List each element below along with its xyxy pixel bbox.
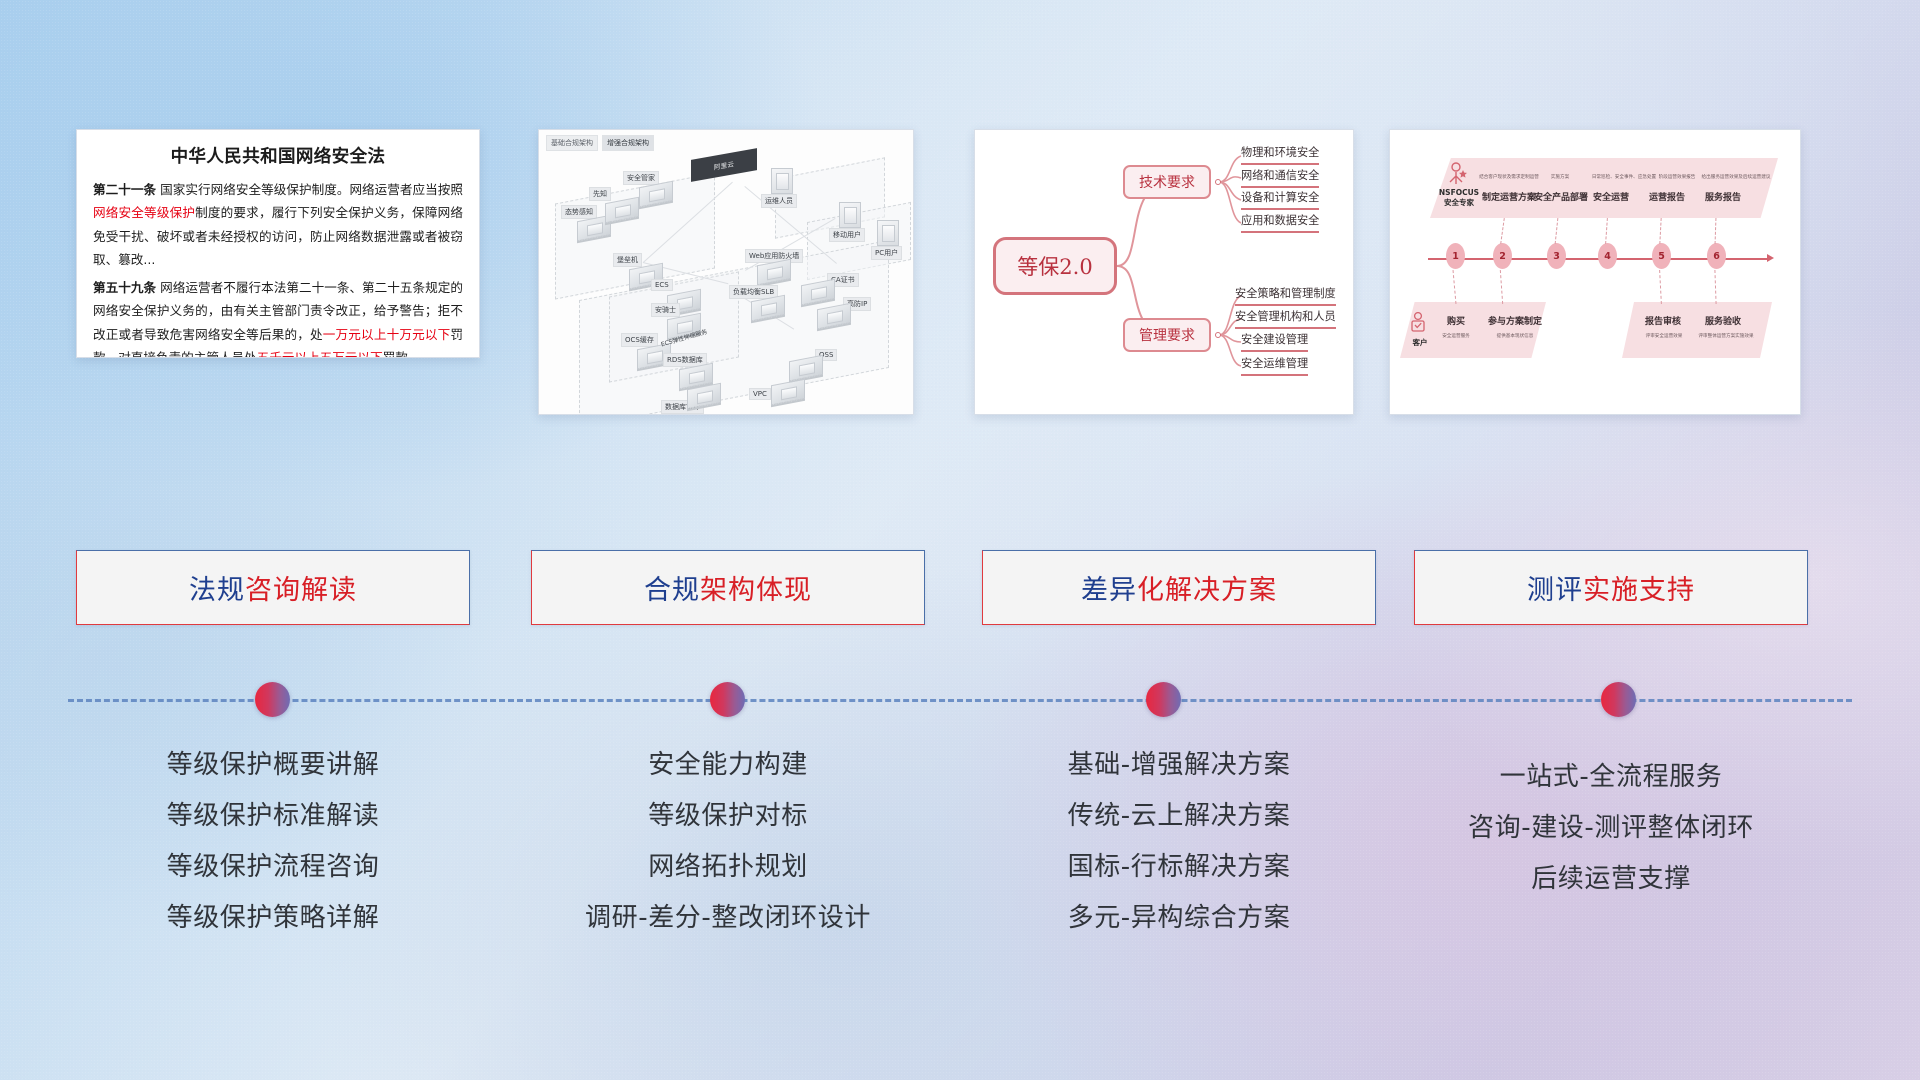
section-title-text: 法规咨询解读	[189, 568, 357, 607]
timeline-node: 6	[1707, 243, 1726, 269]
list-item: 等级保护流程咨询	[76, 842, 470, 893]
architecture-tabs: 基础合规架构 增强合规架构	[546, 135, 654, 151]
section-title-assessment-support[interactable]: 测评实施支持	[1414, 550, 1808, 625]
list-item: 等级保护概要讲解	[76, 740, 470, 791]
node-pc-user: PC用户	[877, 220, 899, 246]
law-highlight: 五千元以上五万元以下	[257, 350, 383, 358]
law-paragraph-21: 第二十一条 国家实行网络安全等级保护制度。网络运营者应当按照网络安全等级保护制度…	[93, 178, 463, 272]
timeline-bottom-sub: 评审整体运营方案实施效果	[1686, 333, 1766, 339]
timeline-bottom-label: 服务验收	[1696, 314, 1750, 327]
node-oss: OSS	[789, 358, 823, 378]
list-item: 网络拓扑规划	[531, 842, 925, 893]
timeline-bottom-label: 购买	[1434, 314, 1478, 327]
node-label: VPC	[749, 388, 771, 400]
customer-person-icon	[1410, 312, 1430, 336]
band-customer-right	[1622, 302, 1772, 358]
timeline-stem	[1659, 270, 1662, 304]
timeline-node: 3	[1547, 243, 1566, 269]
node-glyph	[801, 279, 835, 306]
timeline-marker-1	[255, 682, 290, 717]
mindmap-leaf: 安全建设管理	[1241, 331, 1308, 352]
section-title-text: 测评实施支持	[1527, 568, 1695, 607]
list-item: 等级保护策略详解	[76, 893, 470, 944]
node-label: 安骑士	[651, 303, 680, 317]
node-xianzhi: 先知	[605, 200, 639, 220]
mindmap-leaf: 安全管理机构和人员	[1235, 308, 1336, 329]
node-label: 安全管家	[623, 171, 659, 185]
timeline-stem	[1715, 218, 1717, 244]
timeline-marker-2	[710, 682, 745, 717]
timeline-node: 5	[1652, 243, 1671, 269]
node-slb: 负载均衡SLB	[751, 298, 785, 318]
title-suffix: 化解决方案	[1137, 575, 1277, 606]
node-glyph	[789, 355, 823, 382]
section-items-compliance-architecture: 安全能力构建 等级保护对标 网络拓扑规划 调研-差分-整改闭环设计	[531, 740, 925, 944]
section-title-compliance-architecture[interactable]: 合规架构体现	[531, 550, 925, 625]
section-items-regulation-consulting: 等级保护概要讲解 等级保护标准解读 等级保护流程咨询 等级保护策略详解	[76, 740, 470, 944]
mindmap-branch-management: 管理要求	[1123, 318, 1211, 352]
section-items-differentiated-solution: 基础-增强解决方案 传统-云上解决方案 国标-行标解决方案 多元-异构综合方案	[982, 740, 1376, 944]
list-item: 等级保护对标	[531, 791, 925, 842]
law-highlight: 网络安全等级保护	[93, 205, 195, 220]
node-glyph	[817, 303, 851, 330]
law-highlight: 一万元以上十万元以下	[323, 327, 451, 342]
node-label: PC用户	[871, 246, 902, 260]
card-compliance-architecture: 基础合规架构 增强合规架构 阿里云 态势感知	[538, 129, 914, 415]
section-title-text: 合规架构体现	[644, 568, 812, 607]
mindmap-leaf: 物理和环境安全	[1241, 144, 1319, 165]
timeline-stem	[1453, 270, 1457, 304]
mindmap-leaf: 应用和数据安全	[1241, 212, 1319, 233]
node-label: 先知	[589, 187, 611, 201]
node-mobile-user: 移动用户	[839, 202, 861, 228]
card-cybersecurity-law: 中华人民共和国网络安全法 第二十一条 国家实行网络安全等级保护制度。网络运营者应…	[76, 129, 480, 358]
node-ops-personnel: 运维人员	[771, 168, 793, 194]
node-label: ECS	[651, 279, 673, 291]
mindmap-leaf: 设备和计算安全	[1241, 189, 1319, 210]
list-item: 一站式-全流程服务	[1414, 752, 1808, 803]
title-prefix: 差异	[1081, 575, 1137, 606]
list-item: 后续运营支撑	[1414, 854, 1808, 905]
node-label: 移动用户	[829, 228, 865, 242]
timeline-top-sub: 给出服务运营效果及后续运营建议	[1686, 174, 1786, 180]
timeline-axis-arrow	[1767, 254, 1774, 262]
node-ca-certificate: CA证书	[801, 282, 835, 302]
tab-basic-architecture[interactable]: 基础合规架构	[546, 135, 598, 151]
title-prefix: 合规	[644, 575, 700, 606]
node-label: 堡垒机	[613, 253, 642, 267]
slide-stage: 中华人民共和国网络安全法 第二十一条 国家实行网络安全等级保护制度。网络运营者应…	[0, 0, 1920, 1080]
law-paragraph-59: 第五十九条 网络运营者不履行本法第二十一条、第二十五条规定的网络安全保护义务的，…	[93, 276, 463, 358]
node-database-audit: 数据库审计	[687, 386, 721, 406]
title-suffix: 实施支持	[1583, 575, 1695, 606]
list-item: 安全能力构建	[531, 740, 925, 791]
card-dengbao-mindmap: 等保2.0 技术要求 管理要求 物理和环境安全 网络和通信安全 设备和计算安全 …	[974, 129, 1354, 415]
law-title: 中华人民共和国网络安全法	[93, 143, 463, 168]
mindmap: 等保2.0 技术要求 管理要求 物理和环境安全 网络和通信安全 设备和计算安全 …	[975, 130, 1353, 414]
title-suffix: 咨询解读	[245, 575, 357, 606]
list-item: 咨询-建设-测评整体闭环	[1414, 803, 1808, 854]
node-glyph	[771, 379, 805, 406]
node-waf: Web应用防火墙	[757, 262, 791, 282]
section-title-differentiated-solution[interactable]: 差异化解决方案	[982, 550, 1376, 625]
list-item: 传统-云上解决方案	[982, 791, 1376, 842]
node-glyph	[877, 220, 899, 246]
timeline-bottom-sub: 安全运营服务	[1428, 333, 1484, 339]
timeline-bottom-label: 报告审核	[1636, 314, 1690, 327]
section-title-text: 差异化解决方案	[1081, 568, 1277, 607]
law-text: 罚款。	[383, 350, 421, 358]
timeline-stem	[1500, 270, 1503, 304]
cloud-banner-label: 阿里云	[691, 148, 757, 182]
node-anti-ddos-ip: 高防IP	[817, 306, 851, 326]
mindmap-collapse-dot[interactable]	[1215, 332, 1221, 338]
list-item: 基础-增强解决方案	[982, 740, 1376, 791]
timeline-top-label: 安全运营	[1582, 190, 1640, 203]
card-service-timeline: NSFOCUS 安全专家 客户 1 2 3 4 5 6	[1389, 129, 1801, 415]
timeline-top-label: 运营报告	[1638, 190, 1696, 203]
node-glyph	[839, 202, 861, 228]
customer-label: 客户	[1404, 338, 1436, 347]
tab-enhanced-architecture[interactable]: 增强合规架构	[602, 135, 654, 151]
law-content: 中华人民共和国网络安全法 第二十一条 国家实行网络安全等级保护制度。网络运营者应…	[77, 130, 479, 358]
section-items-assessment-support: 一站式-全流程服务 咨询-建设-测评整体闭环 后续运营支撑	[1414, 752, 1808, 905]
law-article-number: 第五十九条	[93, 280, 156, 295]
service-timeline: NSFOCUS 安全专家 客户 1 2 3 4 5 6	[1390, 130, 1800, 414]
node-label: 运维人员	[761, 194, 797, 208]
timeline-stem	[1555, 218, 1559, 244]
timeline-dashed-line	[68, 699, 1852, 702]
timeline-stem	[1500, 218, 1505, 244]
node-label: 态势感知	[561, 205, 597, 219]
mindmap-root: 等保2.0	[993, 237, 1117, 295]
timeline-node: 4	[1598, 243, 1617, 269]
list-item: 调研-差分-整改闭环设计	[531, 893, 925, 944]
mindmap-branch-technical: 技术要求	[1123, 165, 1211, 199]
node-rds-database: RDS数据库	[679, 366, 713, 386]
node-vpc: VPC	[771, 382, 805, 402]
timeline-stem	[1659, 218, 1661, 244]
section-title-regulation-consulting[interactable]: 法规咨询解读	[76, 550, 470, 625]
mindmap-collapse-dot[interactable]	[1215, 179, 1221, 185]
mindmap-leaf: 安全策略和管理制度	[1235, 285, 1336, 306]
timeline-top-label: 服务报告	[1694, 190, 1752, 203]
list-item: 等级保护标准解读	[76, 791, 470, 842]
title-suffix: 架构体现	[700, 575, 812, 606]
node-glyph	[687, 383, 721, 410]
mindmap-leaf: 网络和通信安全	[1241, 167, 1319, 188]
title-prefix: 法规	[189, 575, 245, 606]
mindmap-leaf: 安全运维管理	[1241, 355, 1308, 376]
timeline-stem	[1714, 270, 1716, 304]
cloud-banner: 阿里云	[691, 148, 757, 182]
timeline-stem	[1605, 218, 1608, 244]
timeline-node: 2	[1493, 243, 1512, 269]
timeline-marker-3	[1146, 682, 1181, 717]
law-article-number: 第二十一条	[93, 182, 156, 197]
node-label: OCS缓存	[621, 333, 658, 347]
node-security-butler: 安全管家	[639, 184, 673, 204]
list-item: 国标-行标解决方案	[982, 842, 1376, 893]
timeline-marker-4	[1601, 682, 1636, 717]
title-prefix: 测评	[1527, 575, 1583, 606]
timeline-node: 1	[1446, 243, 1465, 269]
timeline-bottom-label: 参与方案制定	[1480, 314, 1550, 327]
architecture-diagram: 基础合规架构 增强合规架构 阿里云 态势感知	[539, 130, 913, 414]
list-item: 多元-异构综合方案	[982, 893, 1376, 944]
law-text: 国家实行网络安全等级保护制度。网络运营者应当按照	[156, 182, 463, 197]
node-glyph	[771, 168, 793, 194]
timeline-bottom-sub: 提供基本现状信息	[1480, 333, 1550, 339]
